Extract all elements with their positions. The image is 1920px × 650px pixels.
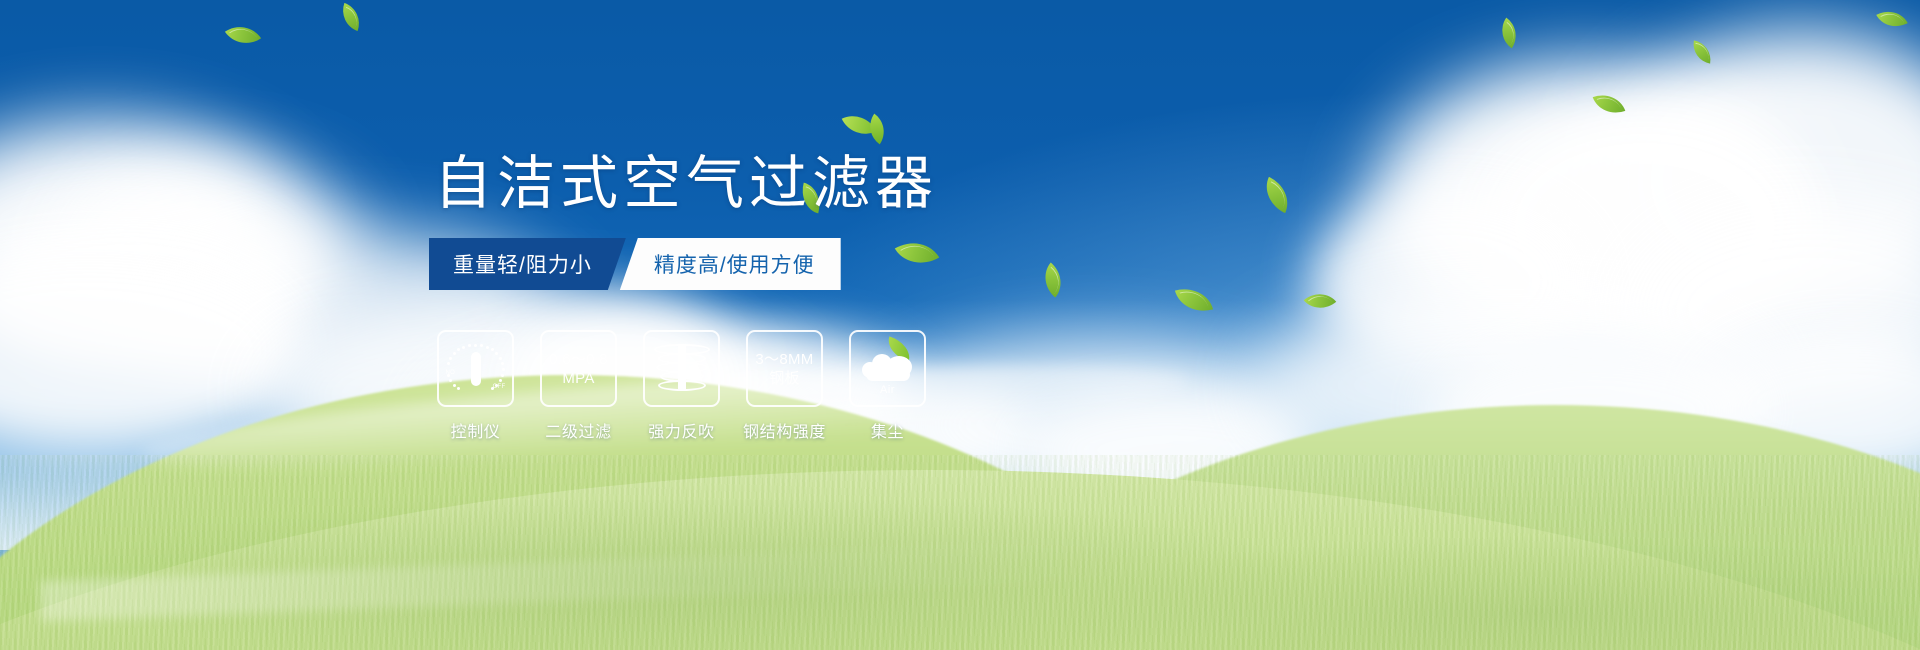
feature-box: NO OFF	[437, 330, 514, 407]
feature-box: 0.6～0.8 MPA	[540, 330, 617, 407]
page-title: 自洁式空气过滤器	[434, 136, 938, 220]
feature-item-blowback[interactable]: 强力反吹	[643, 330, 720, 442]
feature-label: 二级过滤	[545, 418, 611, 442]
steel-value-line1: 3～8MM	[755, 350, 813, 369]
dial-label-no: NO	[446, 370, 456, 376]
dial-needle	[471, 352, 481, 386]
feature-label: 强力反吹	[648, 418, 714, 442]
air-cloud-icon: Air	[860, 344, 916, 394]
badge-secondary: 精度高/使用方便	[620, 238, 841, 290]
feature-item-dust[interactable]: Air 集尘	[849, 330, 926, 442]
badge-primary: 重量轻/阻力小	[429, 238, 626, 290]
banner-content: 自洁式空气过滤器 重量轻/阻力小 精度高/使用方便	[0, 0, 1920, 650]
coil-blowback-icon	[654, 342, 710, 396]
air-label: Air	[860, 384, 916, 396]
pressure-value-line2: MPA	[562, 369, 594, 388]
control-dial-icon: NO OFF	[447, 343, 505, 395]
steel-value-line2: 钢板	[769, 369, 800, 388]
dial-label-off: OFF	[493, 384, 506, 390]
feature-item-control[interactable]: NO OFF 控制仪	[437, 330, 514, 442]
feature-item-filtration[interactable]: 0.6～0.8 MPA 二级过滤	[540, 330, 617, 442]
feature-box: Air	[849, 330, 926, 407]
feature-label: 钢结构强度	[743, 418, 826, 442]
feature-item-steel[interactable]: 3～8MM 钢板 钢结构强度	[746, 330, 823, 442]
feature-label: 控制仪	[451, 418, 501, 442]
feature-list: NO OFF 控制仪 0.6～0.8 MPA 二级过滤	[437, 330, 926, 442]
hero-banner: 自洁式空气过滤器 重量轻/阻力小 精度高/使用方便	[0, 0, 1920, 650]
badge-group: 重量轻/阻力小 精度高/使用方便	[429, 238, 841, 290]
feature-box	[643, 330, 720, 407]
pressure-value-line1: 0.6～0.8	[549, 350, 608, 369]
feature-box: 3～8MM 钢板	[746, 330, 823, 407]
coil-stem	[678, 346, 686, 390]
feature-label: 集尘	[871, 418, 904, 442]
